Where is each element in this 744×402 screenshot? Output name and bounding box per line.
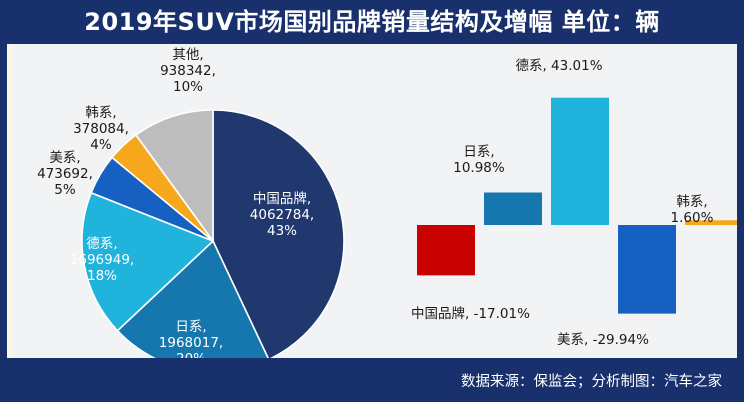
- bar-美系: [618, 225, 676, 314]
- pie-label-usa: 美系, 473692, 5%: [17, 151, 113, 199]
- pie-chart: 中国品牌, 4062784, 43% 日系, 1968017, 20% 德系, …: [7, 44, 399, 358]
- pie-label-japan: 日系, 1968017, 20%: [137, 320, 245, 358]
- chart-title-bar: 2019年SUV市场国别品牌销量结构及增幅 单位：辆: [0, 0, 744, 44]
- bar-label-germany: 德系, 43.01%: [485, 58, 633, 74]
- bar-label-korea: 韩系, 1.60%: [651, 194, 733, 226]
- chart-infographic: 2019年SUV市场国别品牌销量结构及增幅 单位：辆 中国品牌, 4062784…: [0, 0, 744, 402]
- page-title: 2019年SUV市场国别品牌销量结构及增幅 单位：辆: [84, 10, 660, 34]
- chart-content-panel: 中国品牌, 4062784, 43% 日系, 1968017, 20% 德系, …: [7, 44, 737, 358]
- pie-label-other: 其他, 938342, 10%: [132, 48, 244, 96]
- pie-label-germany: 德系, 1696949, 18%: [49, 237, 155, 285]
- bar-chart: 德系, 43.01% 日系, 10.98% 韩系, 1.60% 中国品牌, -1…: [399, 44, 737, 358]
- bar-label-china: 中国品牌, -17.01%: [411, 306, 597, 322]
- bar-label-usa: 美系, -29.94%: [557, 332, 737, 348]
- chart-footer: 数据来源：保监会；分析制图：汽车之家: [0, 358, 744, 402]
- data-source-note: 数据来源：保监会；分析制图：汽车之家: [461, 370, 722, 391]
- bar-中国品牌: [417, 225, 475, 275]
- bar-德系: [551, 98, 609, 225]
- pie-label-china: 中国品牌, 4062784, 43%: [222, 192, 342, 240]
- bar-label-japan: 日系, 10.98%: [437, 144, 521, 176]
- bar-日系: [484, 193, 542, 226]
- pie-label-korea: 韩系, 378084, 4%: [55, 106, 147, 154]
